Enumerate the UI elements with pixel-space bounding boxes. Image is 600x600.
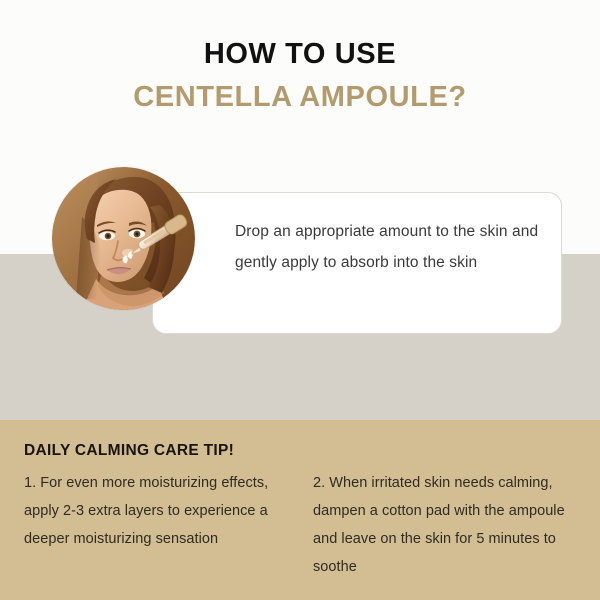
model-applying-serum-photo [52,167,195,310]
step-instruction-text: Drop an appropriate amount to the skin a… [235,217,545,278]
page-title-line2: CENTELLA AMPOULE? [0,79,600,116]
page-title: HOW TO USE CENTELLA AMPOULE? [0,36,600,116]
how-to-use-poster: HOW TO USE CENTELLA AMPOULE? Drop an app… [0,0,600,600]
tip-section-title: DAILY CALMING CARE TIP! [24,442,234,460]
tip-item-1: 1. For even more moisturizing effects, a… [24,470,289,582]
tip-columns: 1. For even more moisturizing effects, a… [24,470,584,582]
step-instruction-card: Drop an appropriate amount to the skin a… [152,192,562,334]
page-title-line1: HOW TO USE [0,36,600,73]
serum-application-illustration [52,167,195,310]
tip-item-2: 2. When irritated skin needs calming, da… [313,470,578,582]
daily-tip-section: DAILY CALMING CARE TIP! 1. For even more… [0,420,600,600]
